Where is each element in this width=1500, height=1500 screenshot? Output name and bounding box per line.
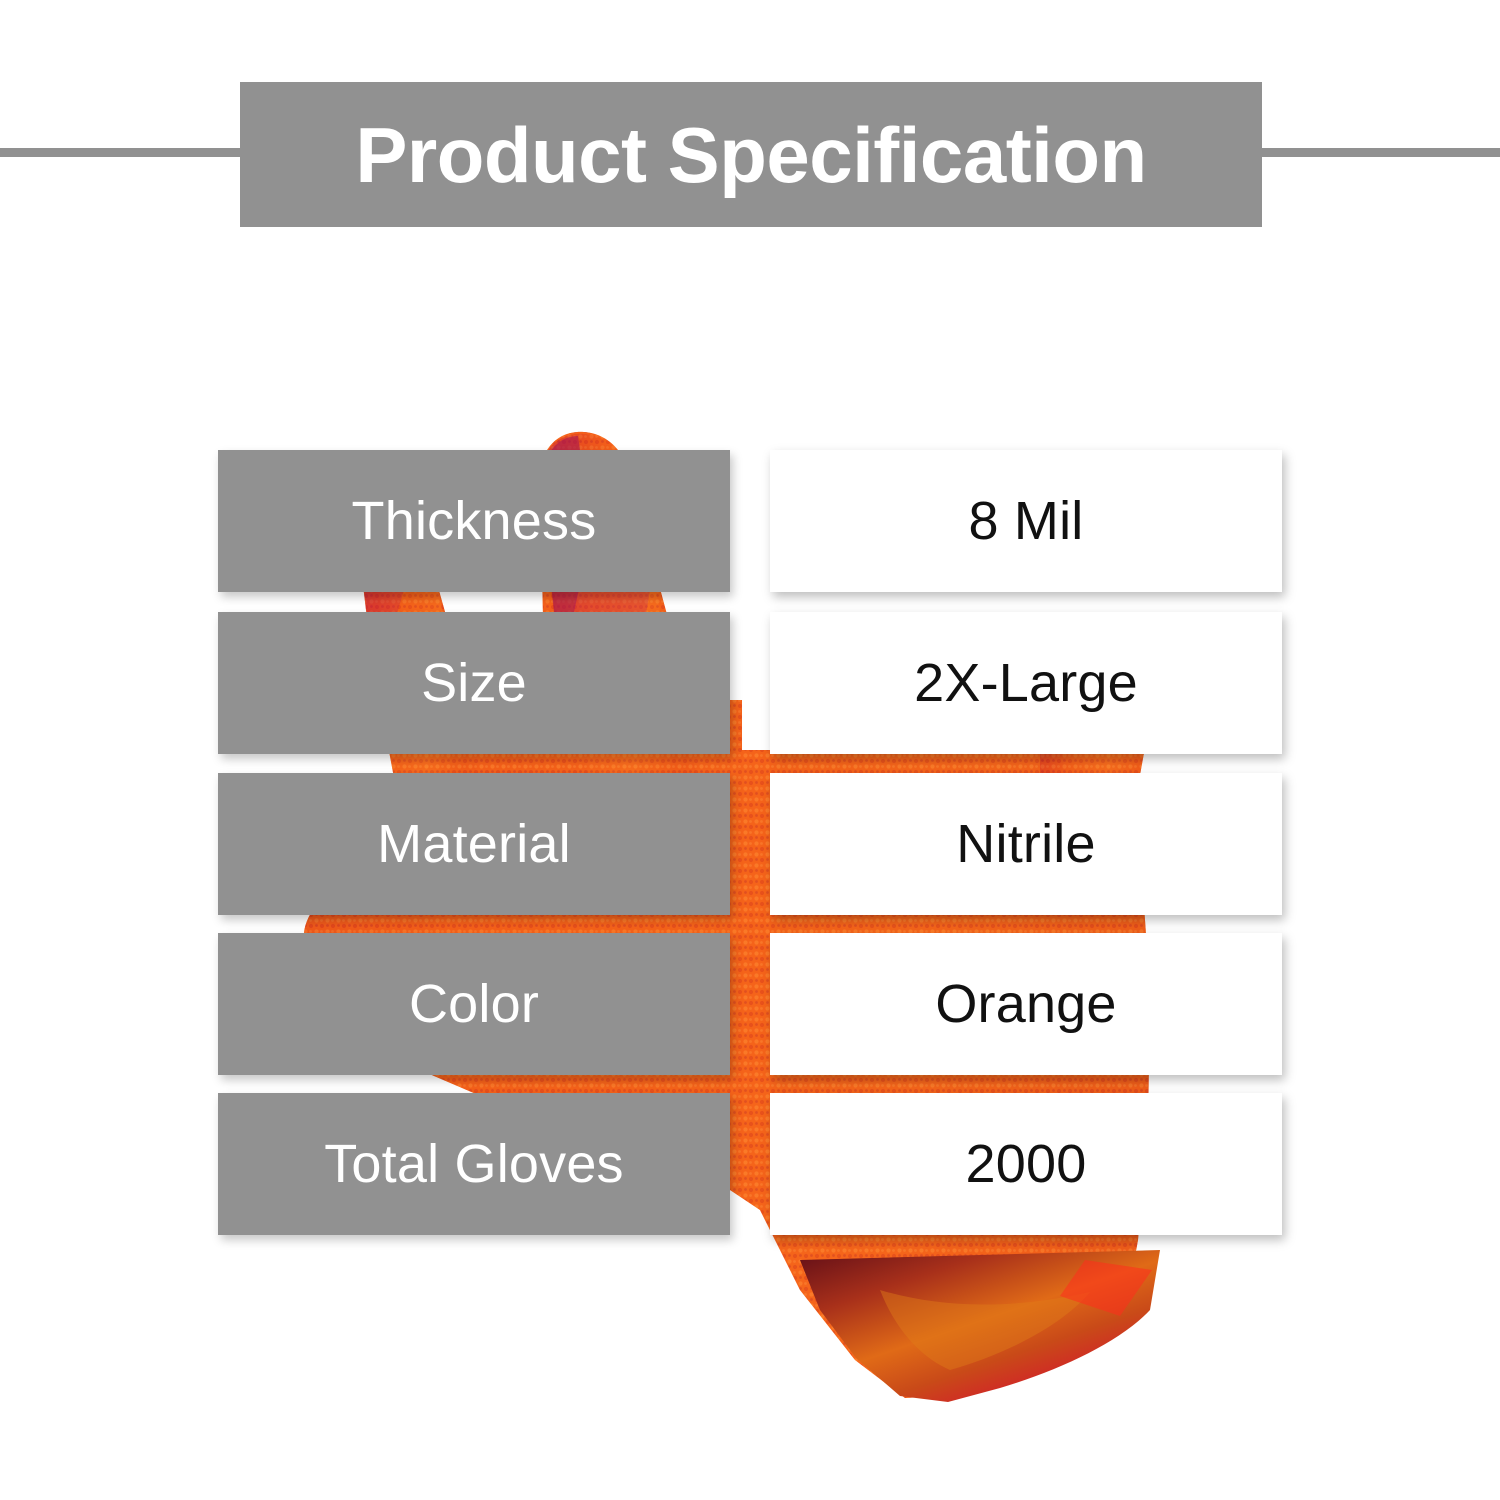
spec-label-text: Thickness	[352, 494, 597, 548]
spec-row-size: Size 2X-Large	[0, 612, 1500, 754]
spec-label-material: Material	[218, 773, 730, 915]
spec-label-total-gloves: Total Gloves	[218, 1093, 730, 1235]
spec-value-material: Nitrile	[770, 773, 1282, 915]
spec-label-text: Color	[409, 977, 539, 1031]
spec-value-total-gloves: 2000	[770, 1093, 1282, 1235]
spec-value-thickness: 8 Mil	[770, 450, 1282, 592]
spec-value-text: 8 Mil	[968, 494, 1083, 548]
spec-label-text: Total Gloves	[324, 1137, 624, 1191]
spec-label-text: Size	[421, 656, 527, 710]
spec-label-thickness: Thickness	[218, 450, 730, 592]
spec-value-size: 2X-Large	[770, 612, 1282, 754]
spec-row-color: Color Orange	[0, 933, 1500, 1075]
spec-row-material: Material Nitrile	[0, 773, 1500, 915]
spec-value-text: 2X-Large	[914, 656, 1138, 710]
spec-row-total-gloves: Total Gloves 2000	[0, 1093, 1500, 1235]
spec-label-color: Color	[218, 933, 730, 1075]
spec-row-thickness: Thickness 8 Mil	[0, 450, 1500, 592]
spec-value-text: Orange	[935, 977, 1116, 1031]
spec-value-color: Orange	[770, 933, 1282, 1075]
spec-label-size: Size	[218, 612, 730, 754]
spec-table: Thickness 8 Mil Size 2X-Large Material N…	[0, 0, 1500, 1500]
spec-label-text: Material	[377, 817, 571, 871]
spec-value-text: 2000	[966, 1137, 1087, 1191]
spec-value-text: Nitrile	[956, 817, 1095, 871]
product-specification-card: Product Specification Thickness 8 Mil Si…	[0, 0, 1500, 1500]
